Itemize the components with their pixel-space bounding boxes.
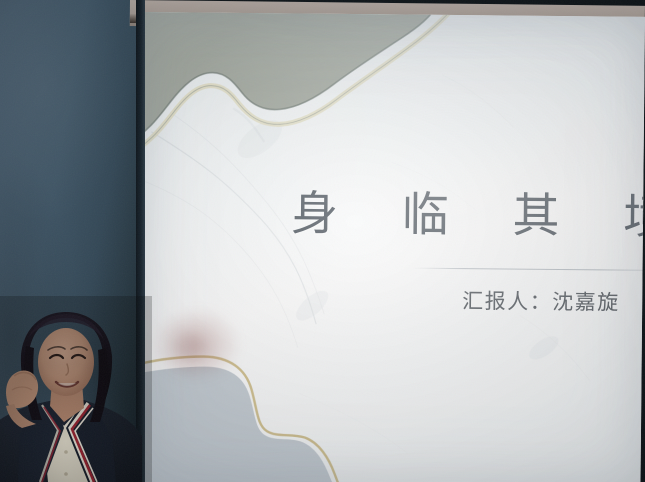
- photo-scene: 身 临 其 境 汇报人：沈嘉旋: [0, 0, 645, 482]
- projected-slide: 身 临 其 境 汇报人：沈嘉旋: [138, 12, 644, 482]
- decoration-top-wave: [138, 12, 469, 153]
- slide-subtitle: 汇报人：沈嘉旋: [462, 291, 620, 314]
- student-presenter: [0, 304, 142, 482]
- slide-title: 身 临 其 境: [291, 191, 645, 242]
- projection-smudge-core: [149, 312, 230, 383]
